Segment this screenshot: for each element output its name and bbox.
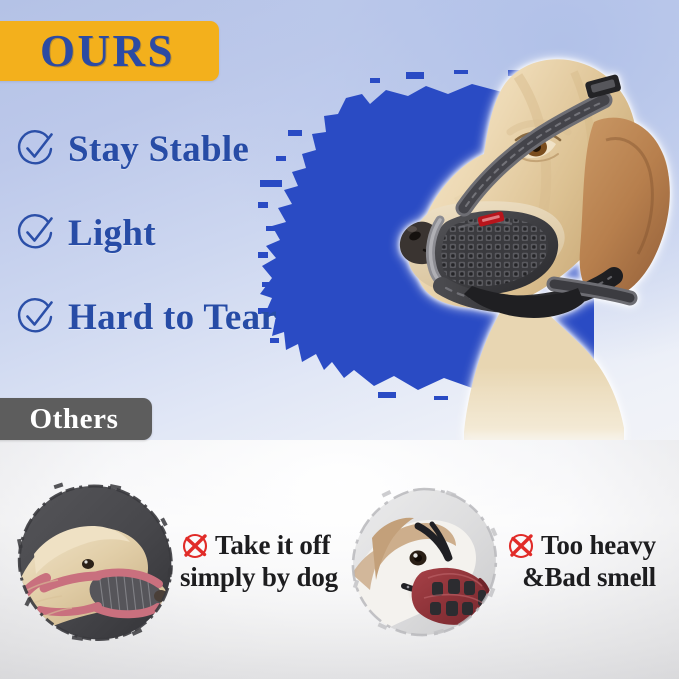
circle-check-icon [16,213,56,253]
ours-badge: OURS [0,21,219,81]
con-line-2: simply by dog [180,562,338,594]
feature-label: Stay Stable [68,131,249,168]
ours-badge-label: OURS [40,29,175,74]
con-line-1-text: Take it off [215,530,330,562]
con-line-2-text: simply by dog [180,562,338,594]
infographic-canvas: OURS Stay Stable [0,0,679,679]
con-line-2-text: &Bad smell [522,562,656,594]
circle-x-icon [180,531,210,561]
white-tan-dog-red-basket-muzzle-photo [348,486,500,638]
feature-label: Hard to Tear [68,299,277,336]
circle-x-icon [506,531,536,561]
others-badge-label: Others [30,405,119,434]
con-line-1: Take it off [180,530,338,562]
con-line-1-text: Too heavy [541,530,656,562]
con-text-block: Take it off simply by dog [180,530,338,594]
con-item-1: Take it off simply by dog [14,482,338,642]
con-line-2: &Bad smell [506,562,656,594]
golden-retriever-pink-fabric-muzzle-photo [14,482,174,642]
labrador-wearing-mesh-muzzle-photo [368,36,679,466]
circle-check-icon [16,297,56,337]
circle-check-icon [16,129,56,169]
con-text-block: Too heavy &Bad smell [506,530,656,594]
feature-label: Light [68,215,156,252]
con-item-2: Too heavy &Bad smell [348,486,656,638]
con-line-1: Too heavy [506,530,656,562]
others-badge: Others [0,398,152,440]
